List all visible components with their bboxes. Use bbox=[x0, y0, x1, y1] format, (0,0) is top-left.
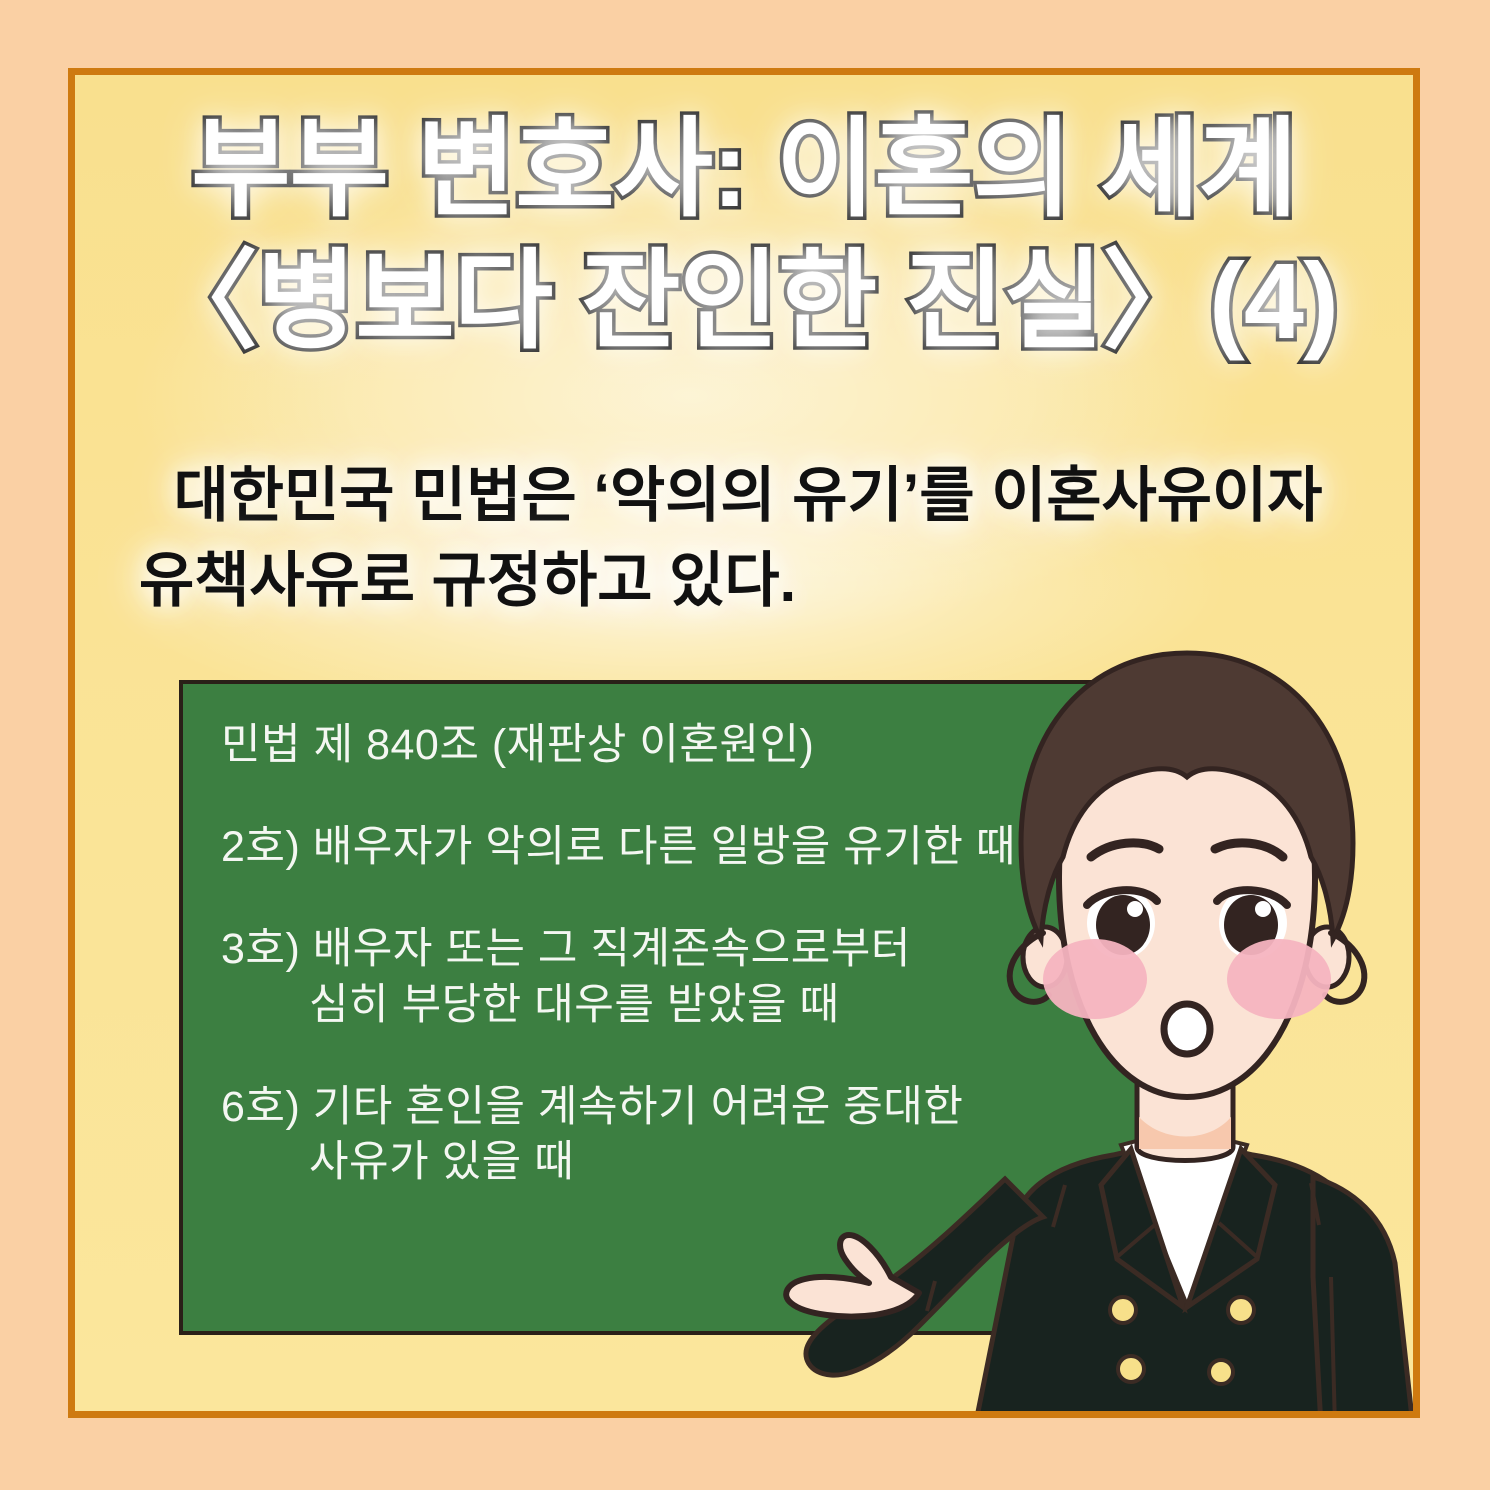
subtitle-line-2: 유책사유로 규정하고 있다. bbox=[133, 538, 1363, 623]
jacket-button-1 bbox=[1110, 1297, 1136, 1323]
jacket-right-sleeve bbox=[1313, 1177, 1413, 1418]
subtitle-line-1: 대한민국 민법은 ‘악의의 유기’를 이혼사유이자 bbox=[133, 453, 1363, 538]
page-title: 부부 변호사: 이혼의 세계 〈병보다 잔인한 진실〉(4) bbox=[75, 103, 1413, 367]
lawyer-character-illustration bbox=[713, 217, 1420, 1418]
blush-right bbox=[1227, 939, 1331, 1019]
blush-left bbox=[1043, 939, 1147, 1019]
jacket-button-4 bbox=[1209, 1360, 1233, 1384]
eye-left-highlight bbox=[1127, 901, 1143, 917]
suit-group bbox=[806, 1129, 1413, 1418]
poster-card: 부부 변호사: 이혼의 세계 〈병보다 잔인한 진실〉(4) 대한민국 민법은 … bbox=[68, 68, 1420, 1418]
jacket-button-3 bbox=[1118, 1356, 1144, 1382]
mouth bbox=[1164, 1004, 1210, 1054]
jacket-button-2 bbox=[1228, 1297, 1254, 1323]
character-svg bbox=[713, 217, 1420, 1418]
title-line-2: 〈병보다 잔인한 진실〉(4) bbox=[75, 235, 1413, 367]
eye-right-highlight bbox=[1255, 901, 1271, 917]
title-line-1: 부부 변호사: 이혼의 세계 bbox=[75, 103, 1413, 235]
subtitle: 대한민국 민법은 ‘악의의 유기’를 이혼사유이자 유책사유로 규정하고 있다. bbox=[133, 453, 1363, 623]
